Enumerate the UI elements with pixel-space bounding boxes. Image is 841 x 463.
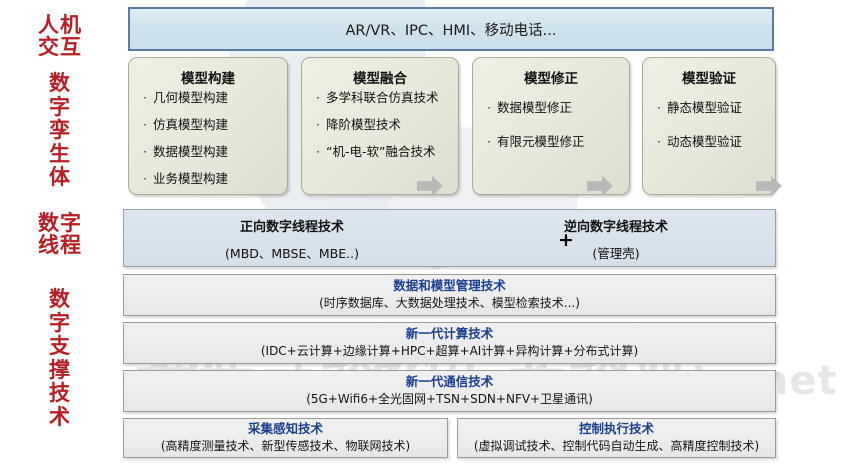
list-item: · 动态模型验证	[651, 133, 769, 151]
support-bar-new-generation-computing: 新一代计算技术 (IDC+云计算+边缘计算+HPC+超算+AI计算+异构计算+分…	[123, 322, 776, 364]
support-bar-control-execution: 控制执行技术 (虚拟调试技术、控制代码自动生成、高精度控制技术)	[457, 418, 776, 458]
bullet-dot-icon: ·	[481, 133, 497, 151]
card-title: 模型修正	[473, 67, 629, 87]
reverse-digital-thread: 逆向数字线程技术 (管理壳)	[466, 216, 766, 262]
list-item-label: 动态模型验证	[667, 133, 742, 151]
rail-label-digital-thread: 数字 线程	[0, 212, 120, 257]
rail-label-digital-twin: 数 字 孪 生 体	[0, 72, 120, 190]
bullet-dot-icon: ·	[137, 116, 153, 134]
support-bar-sub: (IDC+云计算+边缘计算+HPC+超算+AI计算+异构计算+分布式计算)	[261, 344, 638, 360]
bullet-dot-icon: ·	[310, 116, 326, 134]
bullet-dot-icon: ·	[137, 143, 153, 161]
rail-line: 数	[0, 288, 120, 312]
rail-line: 生	[0, 143, 120, 167]
support-bar-title: 控制执行技术	[579, 421, 654, 437]
list-item-label: 仿真模型构建	[153, 116, 228, 134]
digital-twin-card-row: 模型构建 · 几何模型构建 · 仿真模型构建 · 数据模型构建 · 业务模型构建	[128, 57, 776, 203]
arrow-right-icon	[756, 175, 782, 197]
rail-line: 线程	[0, 234, 120, 256]
left-rail: 人机 交互 数 字 孪 生 体 数字 线程 数 字 支 撑 技 术	[0, 0, 120, 463]
support-bar-title: 新一代计算技术	[406, 326, 494, 342]
support-bar-title: 新一代通信技术	[406, 374, 494, 390]
rail-line: 字	[0, 96, 120, 120]
list-item-label: 业务模型构建	[153, 170, 228, 188]
list-item: · 数据模型修正	[481, 99, 623, 117]
list-item: · 多学科联合仿真技术	[310, 89, 452, 107]
rail-line: 技	[0, 382, 120, 406]
diagram-canvas: 工业互联网产业联盟 Alliance of Industrial Interne…	[0, 0, 841, 463]
support-bar-sub: (5G+Wifi6+全光固网+TSN+SDN+NFV+卫星通讯)	[306, 392, 593, 408]
bullet-dot-icon: ·	[651, 99, 667, 117]
list-item-label: 数据模型修正	[497, 99, 572, 117]
list-item-label: 静态模型验证	[667, 99, 742, 117]
rail-line: 人机	[0, 14, 120, 36]
support-bar-sub: (时序数据库、大数据处理技术、模型检索技术...)	[319, 296, 580, 312]
rail-line: 术	[0, 406, 120, 430]
list-item-label: 降阶模型技术	[326, 116, 401, 134]
bullet-dot-icon: ·	[137, 170, 153, 188]
arrow-right-icon	[417, 175, 443, 197]
rail-label-digital-support-technology: 数 字 支 撑 技 术	[0, 288, 120, 429]
card-bullet-list: · 静态模型验证 · 动态模型验证	[651, 99, 769, 160]
rail-line: 字	[0, 312, 120, 336]
rail-line: 撑	[0, 359, 120, 383]
reverse-digital-thread-sub: (管理壳)	[466, 243, 766, 262]
list-item-label: “机-电-软”融合技术	[326, 143, 435, 161]
support-bar-title: 采集感知技术	[248, 421, 323, 437]
support-bar-title: 数据和模型管理技术	[393, 278, 506, 294]
bullet-dot-icon: ·	[310, 143, 326, 161]
list-item: · 几何模型构建	[137, 89, 281, 107]
list-item-label: 几何模型构建	[153, 89, 228, 107]
human-machine-interaction-text: AR/VR、IPC、HMI、移动电话...	[345, 19, 556, 40]
digital-thread-band: 正向数字线程技术 (MBD、MBSE、MBE..) + 逆向数字线程技术 (管理…	[123, 209, 776, 267]
list-item: · 静态模型验证	[651, 99, 769, 117]
rail-line: 交互	[0, 36, 120, 58]
arrow-right-icon	[587, 175, 613, 197]
forward-digital-thread: 正向数字线程技术 (MBD、MBSE、MBE..)	[142, 216, 442, 262]
list-item: · 降阶模型技术	[310, 116, 452, 134]
bullet-dot-icon: ·	[310, 89, 326, 107]
card-bullet-list: · 几何模型构建 · 仿真模型构建 · 数据模型构建 · 业务模型构建	[137, 89, 281, 197]
bullet-dot-icon: ·	[481, 99, 497, 117]
card-title: 模型融合	[302, 67, 458, 87]
human-machine-interaction-bar: AR/VR、IPC、HMI、移动电话...	[128, 7, 774, 51]
support-bar-new-generation-communication: 新一代通信技术 (5G+Wifi6+全光固网+TSN+SDN+NFV+卫星通讯)	[123, 370, 776, 412]
card-title: 模型构建	[129, 67, 287, 87]
rail-line: 支	[0, 335, 120, 359]
forward-digital-thread-title: 正向数字线程技术	[142, 216, 442, 235]
reverse-digital-thread-title: 逆向数字线程技术	[466, 216, 766, 235]
list-item-label: 数据模型构建	[153, 143, 228, 161]
rail-line: 数	[0, 72, 120, 96]
list-item-label: 多学科联合仿真技术	[326, 89, 439, 107]
rail-line: 孪	[0, 119, 120, 143]
forward-digital-thread-sub: (MBD、MBSE、MBE..)	[142, 243, 442, 262]
bullet-dot-icon: ·	[137, 89, 153, 107]
card-bullet-list: · 多学科联合仿真技术 · 降阶模型技术 · “机-电-软”融合技术	[310, 89, 452, 170]
rail-line: 数字	[0, 212, 120, 234]
bullet-dot-icon: ·	[651, 133, 667, 151]
rail-line: 体	[0, 166, 120, 190]
card-model-build: 模型构建 · 几何模型构建 · 仿真模型构建 · 数据模型构建 · 业务模型构建	[128, 57, 288, 195]
support-bar-sub: (虚拟调试技术、控制代码自动生成、高精度控制技术)	[474, 439, 759, 455]
list-item: · 仿真模型构建	[137, 116, 281, 134]
support-bar-sub: (高精度测量技术、新型传感技术、物联网技术)	[161, 439, 410, 455]
support-bar-sensing-acquisition: 采集感知技术 (高精度测量技术、新型传感技术、物联网技术)	[123, 418, 448, 458]
card-title: 模型验证	[643, 67, 775, 87]
list-item-label: 有限元模型修正	[497, 133, 585, 151]
list-item: · “机-电-软”融合技术	[310, 143, 452, 161]
card-bullet-list: · 数据模型修正 · 有限元模型修正	[481, 99, 623, 160]
list-item: · 有限元模型修正	[481, 133, 623, 151]
list-item: · 业务模型构建	[137, 170, 281, 188]
rail-label-human-machine-interaction: 人机 交互	[0, 14, 120, 59]
support-bar-data-model-management: 数据和模型管理技术 (时序数据库、大数据处理技术、模型检索技术...)	[123, 274, 776, 316]
list-item: · 数据模型构建	[137, 143, 281, 161]
